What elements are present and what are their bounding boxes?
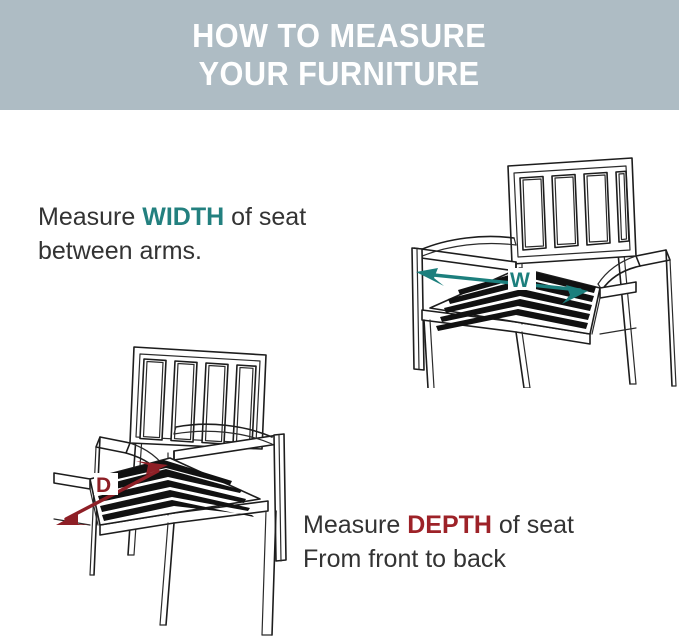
depth-instruction-line-2: From front to back [303, 542, 673, 576]
width-instruction-line-1: Measure WIDTH of seat [38, 200, 438, 234]
depth-instruction-line-1: Measure DEPTH of seat [303, 508, 673, 542]
depth-instruction-suffix: of seat [492, 511, 574, 539]
width-instruction-text: Measure WIDTH of seat between arms. [38, 200, 438, 268]
header-title-line-1: HOW TO MEASURE [192, 17, 486, 55]
width-chair-illustration: W [404, 138, 679, 388]
depth-instruction-prefix: Measure [303, 511, 407, 539]
width-keyword: WIDTH [142, 203, 224, 231]
depth-instruction-text: Measure DEPTH of seat From front to back [303, 508, 673, 576]
width-dimension-label: W [510, 269, 530, 292]
width-instruction-line-2: between arms. [38, 234, 438, 268]
header-title-line-2: YOUR FURNITURE [199, 55, 480, 93]
depth-dimension-label: D [96, 474, 111, 497]
width-instruction-suffix: of seat [224, 203, 306, 231]
header-banner: HOW TO MEASURE YOUR FURNITURE [0, 0, 679, 110]
depth-keyword: DEPTH [407, 511, 492, 539]
depth-chair-illustration: D [16, 325, 296, 642]
width-instruction-prefix: Measure [38, 203, 142, 231]
